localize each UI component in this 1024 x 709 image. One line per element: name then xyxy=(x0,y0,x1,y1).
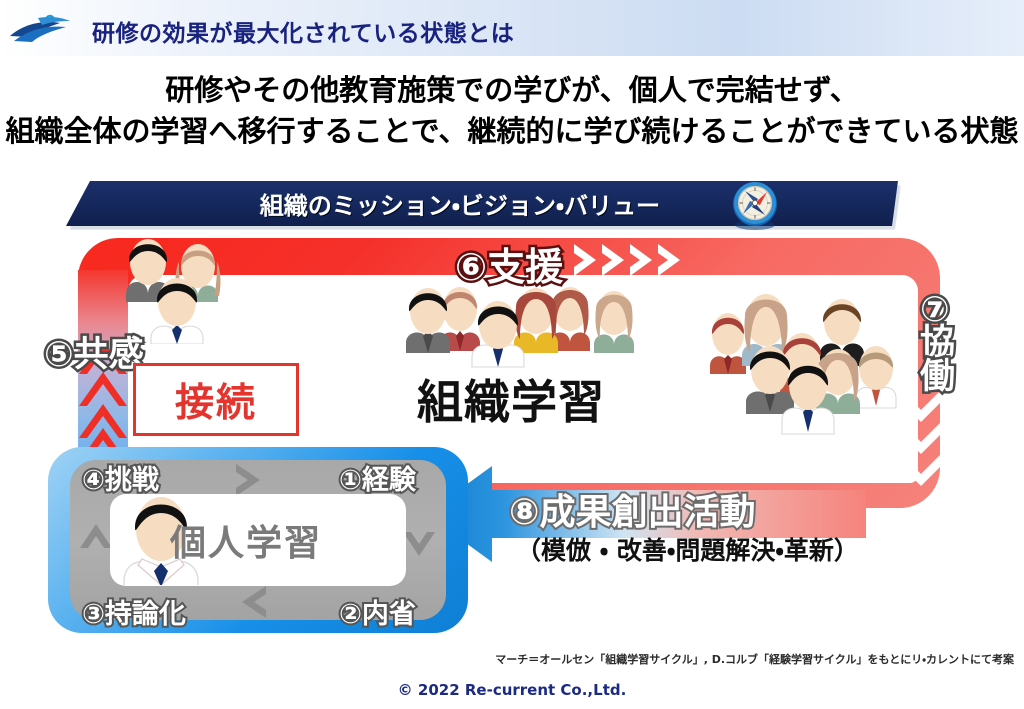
mission-banner: 組織のミッション・ビジョン・バリュー xyxy=(66,181,898,228)
copyright-notice: © 2022 Re-current Co.,Ltd. xyxy=(0,681,1024,699)
people-group-right xyxy=(706,290,912,440)
cycle-arrow-top-icon xyxy=(232,462,272,498)
lead-line-2: 組織全体の学習へ移行することで、継続的に学び続けることができている状態 xyxy=(0,111,1024,152)
people-group-top-left xyxy=(118,234,238,344)
cycle-label-experience: ①経験 xyxy=(339,458,416,497)
people-group-center xyxy=(400,281,650,373)
page-title: 研修の効果が最大化されている状態とは xyxy=(92,14,514,48)
source-footnote: マーチ＝オールセン「組織学習サイクル」, D.コルブ「経験学習サイクル」をもとに… xyxy=(0,651,1014,667)
cycle-label-challenge: ④挑戦 xyxy=(82,458,159,497)
label-results: ⑧成果創出活動 xyxy=(509,483,755,535)
connection-box: 接続 xyxy=(133,363,299,436)
label-results-sub: （模倣 ・ 改善・問題解決・革新） xyxy=(516,531,859,567)
swoosh-logo-icon xyxy=(8,14,82,44)
cycle-label-theory: ③持論化 xyxy=(82,592,186,631)
compass-icon xyxy=(727,177,783,233)
individual-learning-label: 個人学習 xyxy=(170,514,322,566)
lead-statement: 研修やその他教育施策での学びが、個人で完結せず、 組織全体の学習へ移行することで… xyxy=(0,70,1024,152)
label-collaboration: ⑦協働 xyxy=(920,294,956,394)
lead-line-1: 研修やその他教育施策での学びが、個人で完結せず、 xyxy=(0,70,1024,111)
org-learning-label: 組織学習 xyxy=(417,366,605,432)
slide-canvas: 研修の効果が最大化されている状態とは 研修やその他教育施策での学びが、個人で完結… xyxy=(0,0,1024,709)
cycle-label-reflection: ②内省 xyxy=(339,592,416,631)
cycle-arrow-bottom-icon xyxy=(232,584,272,620)
slide-header: 研修の効果が最大化されている状態とは xyxy=(0,0,1024,56)
connection-label: 接続 xyxy=(175,372,257,428)
right-chevrons-icon xyxy=(572,243,684,277)
